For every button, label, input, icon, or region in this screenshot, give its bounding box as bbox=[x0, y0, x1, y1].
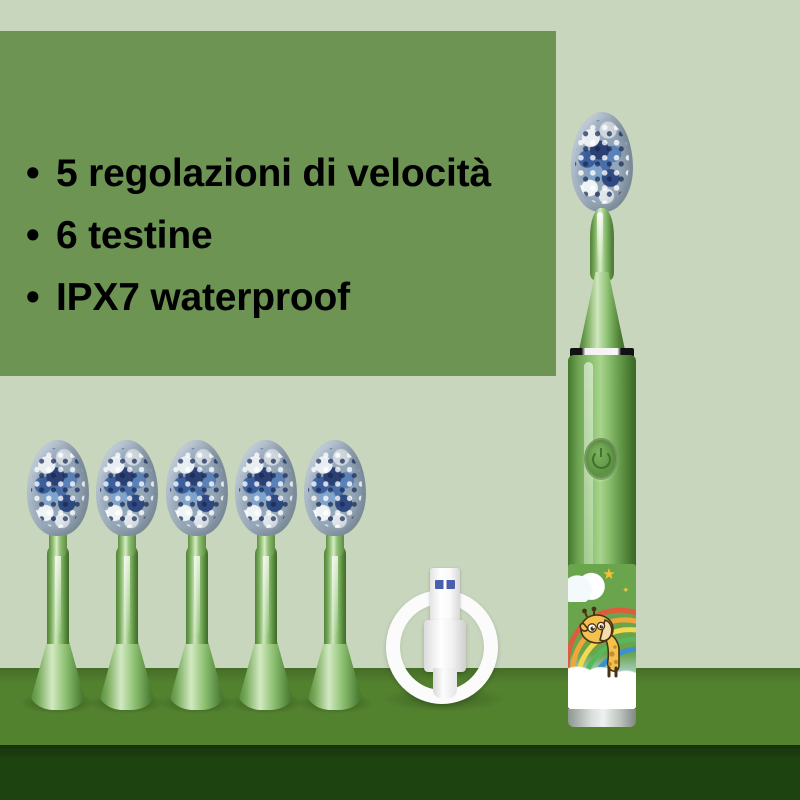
bullet-icon: • bbox=[26, 267, 39, 329]
feature-item-label: IPX7 waterproof bbox=[56, 276, 350, 319]
main-brush-head bbox=[571, 112, 633, 212]
head-stem-highlight bbox=[194, 548, 200, 634]
star-icon: ★ bbox=[602, 568, 616, 582]
bristle-tufts bbox=[31, 448, 86, 529]
replacement-head bbox=[166, 440, 228, 720]
feature-panel: • 5 regolazioni di velocità • 6 testine … bbox=[0, 31, 556, 376]
brush-head bbox=[27, 440, 89, 536]
bristles bbox=[235, 440, 297, 536]
feature-item-waterproof: • IPX7 waterproof bbox=[18, 267, 554, 329]
main-toothbrush: ★ ✦ bbox=[548, 112, 656, 727]
bristles bbox=[96, 440, 158, 536]
bristle-tufts bbox=[308, 448, 363, 529]
bristle-tufts bbox=[170, 448, 225, 529]
usb-contacts-icon bbox=[435, 580, 455, 589]
brush-head bbox=[304, 440, 366, 536]
brush-head bbox=[235, 440, 297, 536]
feature-item-speeds: • 5 regolazioni di velocità bbox=[18, 143, 554, 205]
handle-base-ring bbox=[568, 709, 636, 727]
replacement-head bbox=[27, 440, 89, 720]
feature-list: • 5 regolazioni di velocità • 6 testine … bbox=[18, 143, 554, 329]
head-stem-highlight bbox=[124, 548, 130, 634]
neck-highlight bbox=[597, 212, 603, 264]
usb-connector-collar bbox=[424, 620, 466, 672]
feature-item-label: 6 testine bbox=[56, 214, 212, 257]
replacement-head bbox=[304, 440, 366, 720]
cable-strain-relief bbox=[433, 668, 457, 698]
product-image-canvas: • 5 regolazioni di velocità • 6 testine … bbox=[0, 0, 800, 800]
giraffe-icon bbox=[578, 602, 626, 680]
power-icon bbox=[592, 450, 611, 469]
base-contact-shadow bbox=[0, 745, 800, 759]
feature-item-heads: • 6 testine bbox=[18, 205, 554, 267]
feature-item-label: 5 regolazioni di velocità bbox=[56, 152, 491, 195]
usb-a-connector bbox=[430, 568, 460, 624]
head-handle-flare bbox=[236, 636, 296, 710]
replacement-head bbox=[235, 440, 297, 720]
bristles bbox=[166, 440, 228, 536]
bullet-icon: • bbox=[26, 205, 39, 267]
usb-charging-cable bbox=[386, 568, 506, 708]
power-button[interactable] bbox=[584, 438, 618, 480]
replacement-head bbox=[96, 440, 158, 720]
bristles bbox=[27, 440, 89, 536]
bristle-tufts bbox=[239, 448, 294, 529]
sparkle-icon: ✦ bbox=[622, 586, 630, 594]
head-handle-flare bbox=[28, 636, 88, 710]
bristle-tufts bbox=[100, 448, 155, 529]
bristles bbox=[304, 440, 366, 536]
bristles bbox=[571, 112, 633, 212]
giraffe-decal: ★ ✦ bbox=[568, 564, 636, 709]
head-handle-flare bbox=[97, 636, 157, 710]
head-stem-highlight bbox=[55, 548, 61, 634]
head-handle-flare bbox=[305, 636, 365, 710]
brush-head bbox=[166, 440, 228, 536]
head-handle-flare bbox=[167, 636, 227, 710]
brush-head bbox=[96, 440, 158, 536]
bullet-icon: • bbox=[26, 143, 39, 205]
head-stem-highlight bbox=[263, 548, 269, 634]
head-stem-highlight bbox=[332, 548, 338, 634]
handle-cone bbox=[579, 272, 625, 350]
bristle-tufts bbox=[575, 120, 630, 204]
